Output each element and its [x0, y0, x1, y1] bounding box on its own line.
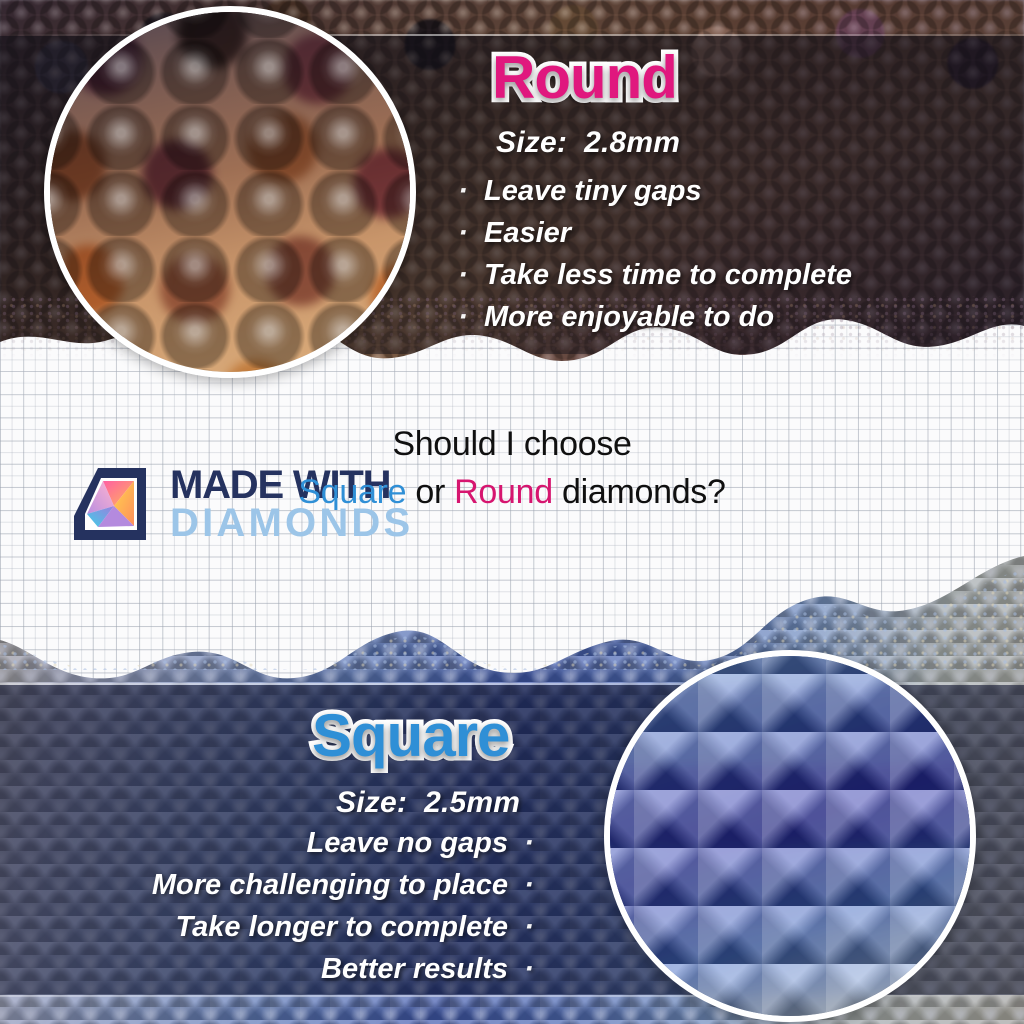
square-size-label: Size: 2.5mm	[336, 786, 520, 820]
question-heading: Should I choose Square or Round diamonds…	[0, 420, 1024, 516]
list-item: More challenging to place	[152, 864, 534, 906]
list-item: Leave no gaps	[152, 822, 534, 864]
infographic-canvas: Round Size: 2.8mm Leave tiny gaps Easier…	[0, 0, 1024, 1024]
square-magnifier-circle	[604, 650, 976, 1022]
round-section-title: Round	[492, 48, 677, 108]
square-benefits-list: Leave no gaps More challenging to place …	[152, 822, 534, 990]
question-line-1: Should I choose	[0, 420, 1024, 468]
question-keyword-square: Square	[298, 473, 406, 511]
question-line-2: Square or Round diamonds?	[0, 468, 1024, 516]
round-magnifier-image	[50, 12, 410, 372]
list-item: Take less time to complete	[458, 254, 852, 296]
square-magnifier-drill-cells	[604, 650, 976, 1022]
list-item: Take longer to complete	[152, 906, 534, 948]
question-keyword-round: Round	[454, 473, 553, 511]
question-conjunction: or	[406, 473, 454, 511]
list-item: Better results	[152, 948, 534, 990]
list-item: More enjoyable to do	[458, 296, 852, 338]
round-benefits-list: Leave tiny gaps Easier Take less time to…	[458, 170, 852, 338]
round-magnifier-drill-cells	[44, 6, 416, 378]
round-size-label: Size: 2.8mm	[496, 126, 680, 160]
square-section-title: Square	[312, 706, 509, 766]
round-magnifier-circle	[44, 6, 416, 378]
square-magnifier-image	[610, 656, 970, 1016]
list-item: Leave tiny gaps	[458, 170, 852, 212]
list-item: Easier	[458, 212, 852, 254]
question-suffix: diamonds?	[553, 473, 726, 511]
